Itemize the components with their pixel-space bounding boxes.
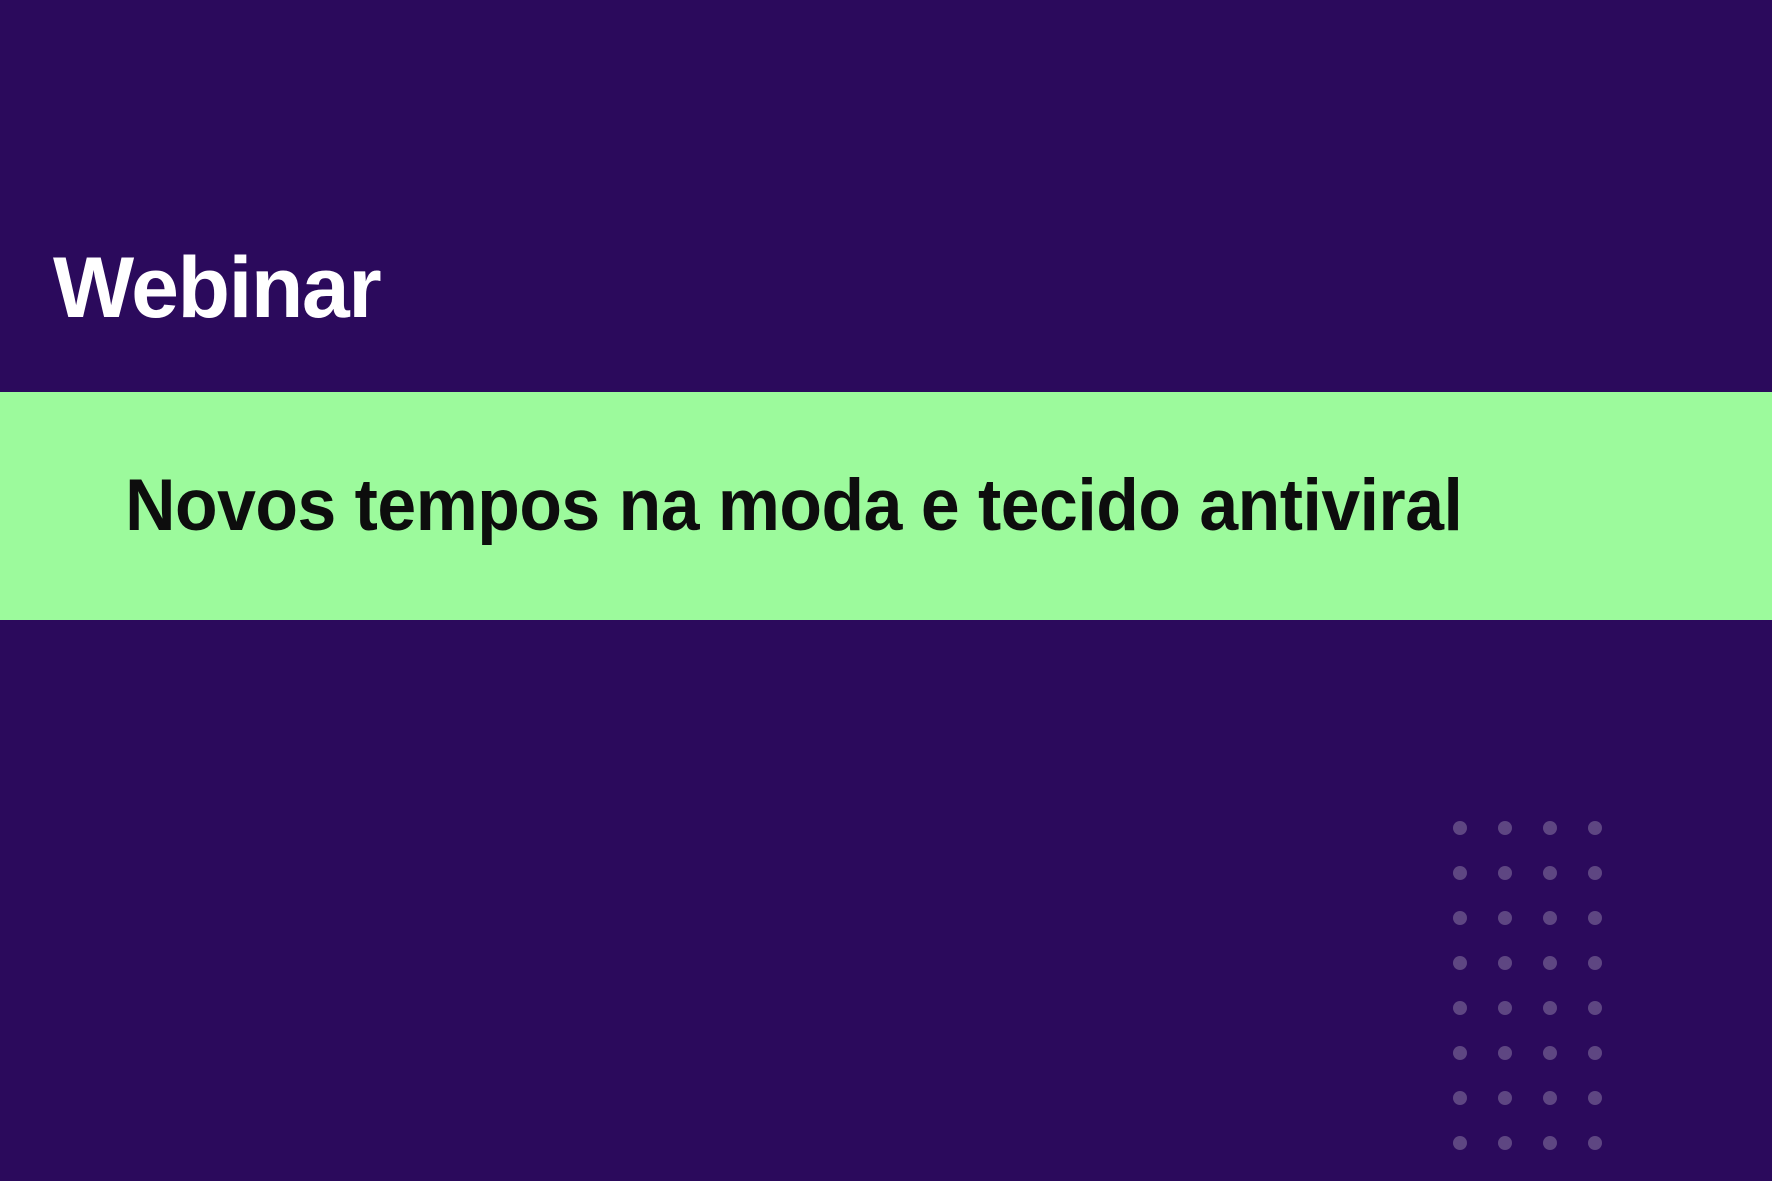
eyebrow-label: Webinar — [53, 243, 380, 334]
dot-icon — [1453, 1091, 1498, 1136]
dot-icon — [1543, 1001, 1588, 1046]
page-title: Novos tempos na moda e tecido antiviral — [0, 468, 1462, 544]
dot-icon — [1498, 1091, 1543, 1136]
dot-icon — [1588, 1001, 1633, 1046]
dot-icon — [1543, 1091, 1588, 1136]
dot-icon — [1498, 1046, 1543, 1091]
dot-icon — [1588, 1136, 1633, 1181]
dot-icon — [1498, 911, 1543, 956]
dot-icon — [1453, 821, 1498, 866]
dot-icon — [1588, 956, 1633, 1001]
dot-icon — [1453, 1001, 1498, 1046]
webinar-banner: Webinar Novos tempos na moda e tecido an… — [0, 0, 1772, 1181]
dot-icon — [1543, 821, 1588, 866]
dot-icon — [1498, 1001, 1543, 1046]
dot-icon — [1498, 956, 1543, 1001]
dot-icon — [1588, 1046, 1633, 1091]
dot-icon — [1588, 911, 1633, 956]
dot-icon — [1453, 1046, 1498, 1091]
dot-icon — [1543, 911, 1588, 956]
dot-icon — [1453, 911, 1498, 956]
dot-icon — [1588, 866, 1633, 911]
title-highlight-band: Novos tempos na moda e tecido antiviral — [0, 392, 1772, 620]
dot-icon — [1543, 866, 1588, 911]
decorative-dot-grid — [1453, 821, 1653, 1181]
dot-icon — [1498, 821, 1543, 866]
dot-icon — [1543, 1136, 1588, 1181]
dot-icon — [1498, 866, 1543, 911]
dot-icon — [1453, 956, 1498, 1001]
dot-icon — [1588, 1091, 1633, 1136]
dot-icon — [1543, 956, 1588, 1001]
dot-icon — [1543, 1046, 1588, 1091]
dot-icon — [1498, 1136, 1543, 1181]
dot-icon — [1588, 821, 1633, 866]
dot-icon — [1453, 1136, 1498, 1181]
dot-icon — [1453, 866, 1498, 911]
